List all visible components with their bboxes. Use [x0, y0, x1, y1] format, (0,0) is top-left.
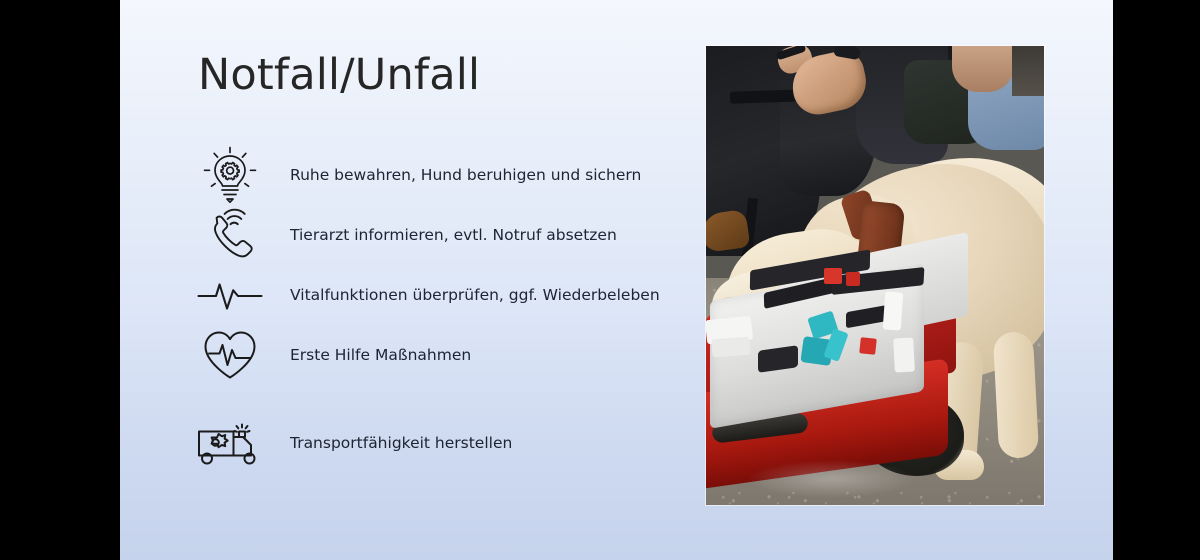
slide-title: Notfall/Unfall: [198, 52, 480, 99]
photo-case-red-item: [824, 268, 842, 284]
photo-person-right: [1012, 46, 1044, 96]
presentation-slide: Notfall/Unfall Ruhe bewahren, Hund beruh…: [120, 0, 1113, 560]
screenshot-stage: Notfall/Unfall Ruhe bewahren, Hund beruh…: [0, 0, 1200, 560]
photo-person-arm: [952, 46, 1014, 92]
bullet-text: Tierarzt informieren, evtl. Notruf abset…: [290, 226, 617, 244]
bullet-text: Ruhe bewahren, Hund beruhigen und sicher…: [290, 166, 641, 184]
photo-dog-with-first-aid-kit: [706, 46, 1044, 505]
photo-floor-highlight: [746, 460, 916, 498]
ambulance-icon: [192, 408, 268, 478]
letterbox-bar-right: [1113, 0, 1200, 560]
bullet-text: Erste Hilfe Maßnahmen: [290, 346, 471, 364]
bullet-item: Transportfähigkeit herstellen: [192, 408, 512, 478]
photo-case-white-item: [711, 337, 750, 358]
photo-case-red-item: [859, 337, 877, 355]
photo-case-white-item: [883, 291, 904, 330]
photo-case-white-item: [893, 337, 915, 372]
bullet-text: Vitalfunktionen überprüfen, ggf. Wiederb…: [290, 286, 660, 304]
bullet-text: Transportfähigkeit herstellen: [290, 434, 512, 452]
photo-dog-leg-rear: [993, 331, 1040, 459]
bullet-item: Erste Hilfe Maßnahmen: [192, 320, 471, 390]
heart-pulse-icon: [192, 320, 268, 390]
photo-shoe: [706, 209, 750, 253]
letterbox-bar-left: [0, 0, 120, 560]
photo-case-red-item: [846, 272, 860, 286]
